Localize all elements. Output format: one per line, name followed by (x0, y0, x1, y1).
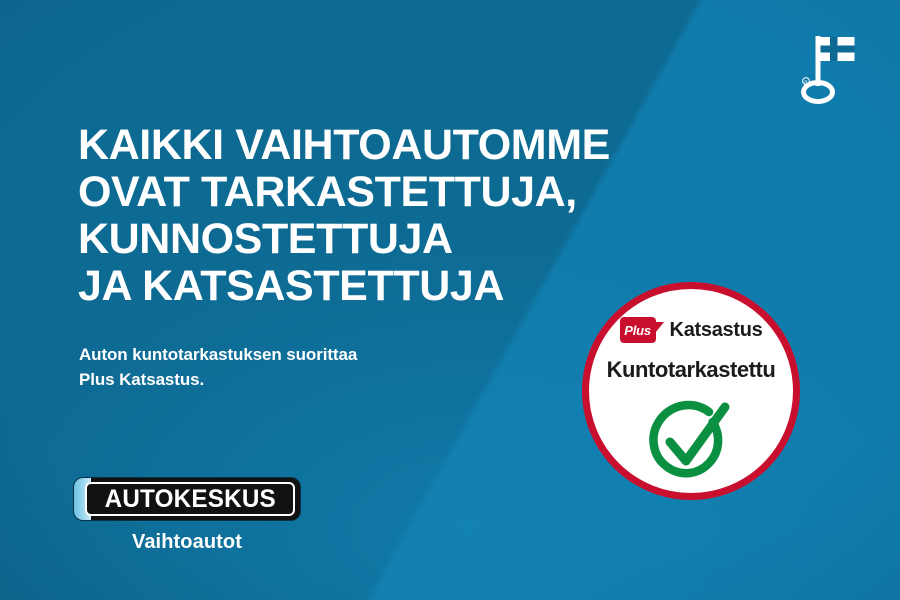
subtitle: Auton kuntotarkastuksen suorittaa Plus K… (79, 342, 499, 392)
plus-katsastus-seal: Plus Katsastus Kuntotarkastettu (582, 282, 800, 500)
headline: KAIKKI VAIHTOAUTOMME OVAT TARKASTETTUJA,… (78, 122, 678, 310)
logo-subtitle: Vaihtoautot (74, 531, 300, 554)
avainlippu-key-flag-icon: R (782, 26, 862, 106)
svg-text:R: R (804, 79, 807, 84)
logo-plate-text: AUTOKESKUS (104, 487, 275, 512)
autokeskus-logo[interactable]: AUTOKESKUS Vaihtoautot (74, 478, 306, 554)
green-check-circle-icon (639, 397, 743, 489)
logo-plate-inner: AUTOKESKUS (85, 482, 295, 516)
logo-plate: AUTOKESKUS (74, 478, 300, 520)
seal-brand-name: Katsastus (670, 320, 763, 340)
plus-logo-text: Plus (620, 317, 656, 343)
seal-brand-row: Plus Katsastus (589, 317, 793, 343)
plus-logo-icon: Plus (620, 317, 664, 343)
advertisement-banner: R KAIKKI VAIHTOAUTOMME OVAT TARKASTETTUJ… (0, 0, 900, 600)
seal-title: Kuntotarkastettu (589, 359, 793, 381)
